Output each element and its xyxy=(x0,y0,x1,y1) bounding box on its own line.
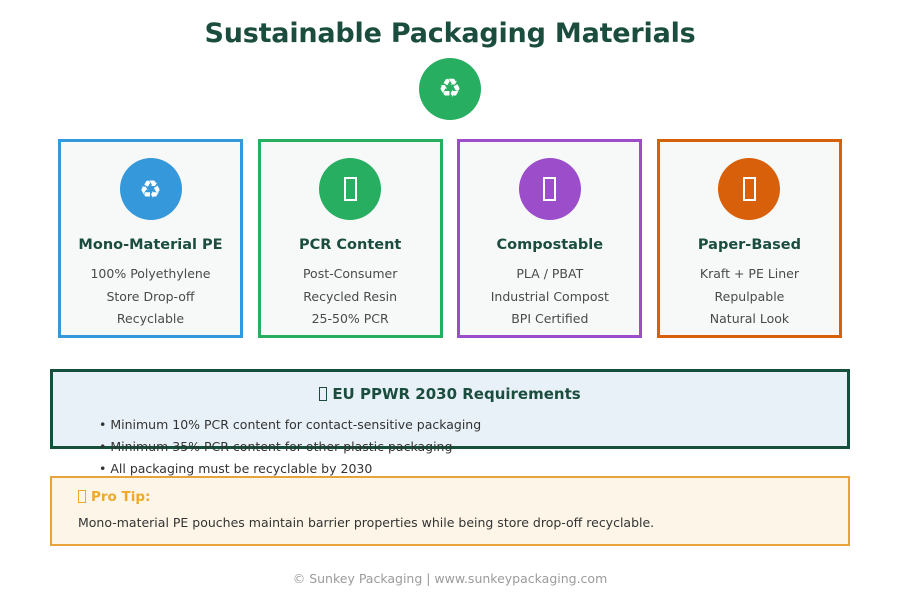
missing-glyph-icon xyxy=(78,490,86,503)
missing-glyph-box xyxy=(344,177,357,201)
missing-glyph-box xyxy=(743,177,756,201)
material-card-detail: Industrial Compost xyxy=(491,286,609,309)
material-card-detail: Kraft + PE Liner xyxy=(700,263,799,286)
material-card-detail: 100% Polyethylene xyxy=(90,263,210,286)
material-card-title: PCR Content xyxy=(299,237,401,253)
material-card-title: Paper-Based xyxy=(698,237,801,253)
material-card-detail: Repulpable xyxy=(700,286,799,309)
material-card-detail-list: Post-ConsumerRecycled Resin25-50% PCR xyxy=(303,263,397,331)
regulation-bullet-list: • Minimum 10% PCR content for contact-se… xyxy=(99,414,839,480)
material-card-detail: Natural Look xyxy=(700,308,799,331)
regulation-notice-title: EU PPWR 2030 Requirements xyxy=(0,385,900,403)
material-card[interactable]: CompostablePLA / PBATIndustrial CompostB… xyxy=(457,139,642,338)
regulation-bullet: • Minimum 35% PCR content for other plas… xyxy=(99,436,839,458)
material-card-detail: BPI Certified xyxy=(491,308,609,331)
pro-tip-title-text: Pro Tip: xyxy=(91,489,150,505)
material-card-detail-list: 100% PolyethyleneStore Drop-offRecyclabl… xyxy=(90,263,210,331)
material-card-detail: Post-Consumer xyxy=(303,263,397,286)
material-card-detail: PLA / PBAT xyxy=(491,263,609,286)
missing-glyph-icon xyxy=(319,158,381,220)
material-card[interactable]: Paper-BasedKraft + PE LinerRepulpableNat… xyxy=(657,139,842,338)
regulation-bullet: • Minimum 10% PCR content for contact-se… xyxy=(99,414,839,436)
page-title: Sustainable Packaging Materials xyxy=(0,18,900,49)
pro-tip-title: Pro Tip: xyxy=(78,489,150,505)
missing-glyph-icon xyxy=(718,158,780,220)
material-card-detail: Recycled Resin xyxy=(303,286,397,309)
regulation-notice-title-text: EU PPWR 2030 Requirements xyxy=(332,385,580,403)
pro-tip-body: Mono-material PE pouches maintain barrie… xyxy=(78,515,654,530)
material-card[interactable]: PCR ContentPost-ConsumerRecycled Resin25… xyxy=(258,139,443,338)
material-card-title: Compostable xyxy=(497,237,604,253)
missing-glyph-icon xyxy=(319,387,327,401)
missing-glyph-icon xyxy=(519,158,581,220)
materials-card-row: ♻Mono-Material PE100% PolyethyleneStore … xyxy=(58,139,842,338)
recycle-icon: ♻ xyxy=(419,58,481,120)
material-card[interactable]: ♻Mono-Material PE100% PolyethyleneStore … xyxy=(58,139,243,338)
pro-tip-box xyxy=(50,476,850,546)
material-card-detail-list: PLA / PBATIndustrial CompostBPI Certifie… xyxy=(491,263,609,331)
material-card-detail: Store Drop-off xyxy=(90,286,210,309)
material-card-title: Mono-Material PE xyxy=(78,237,222,253)
material-card-detail: 25-50% PCR xyxy=(303,308,397,331)
recycle-icon: ♻ xyxy=(120,158,182,220)
material-card-detail: Recyclable xyxy=(90,308,210,331)
missing-glyph-box xyxy=(543,177,556,201)
recycle-glyph: ♻ xyxy=(438,76,461,102)
footer-copyright: © Sunkey Packaging | www.sunkeypackaging… xyxy=(0,571,900,586)
material-card-detail-list: Kraft + PE LinerRepulpableNatural Look xyxy=(700,263,799,331)
card-icon-glyph: ♻ xyxy=(139,177,161,202)
